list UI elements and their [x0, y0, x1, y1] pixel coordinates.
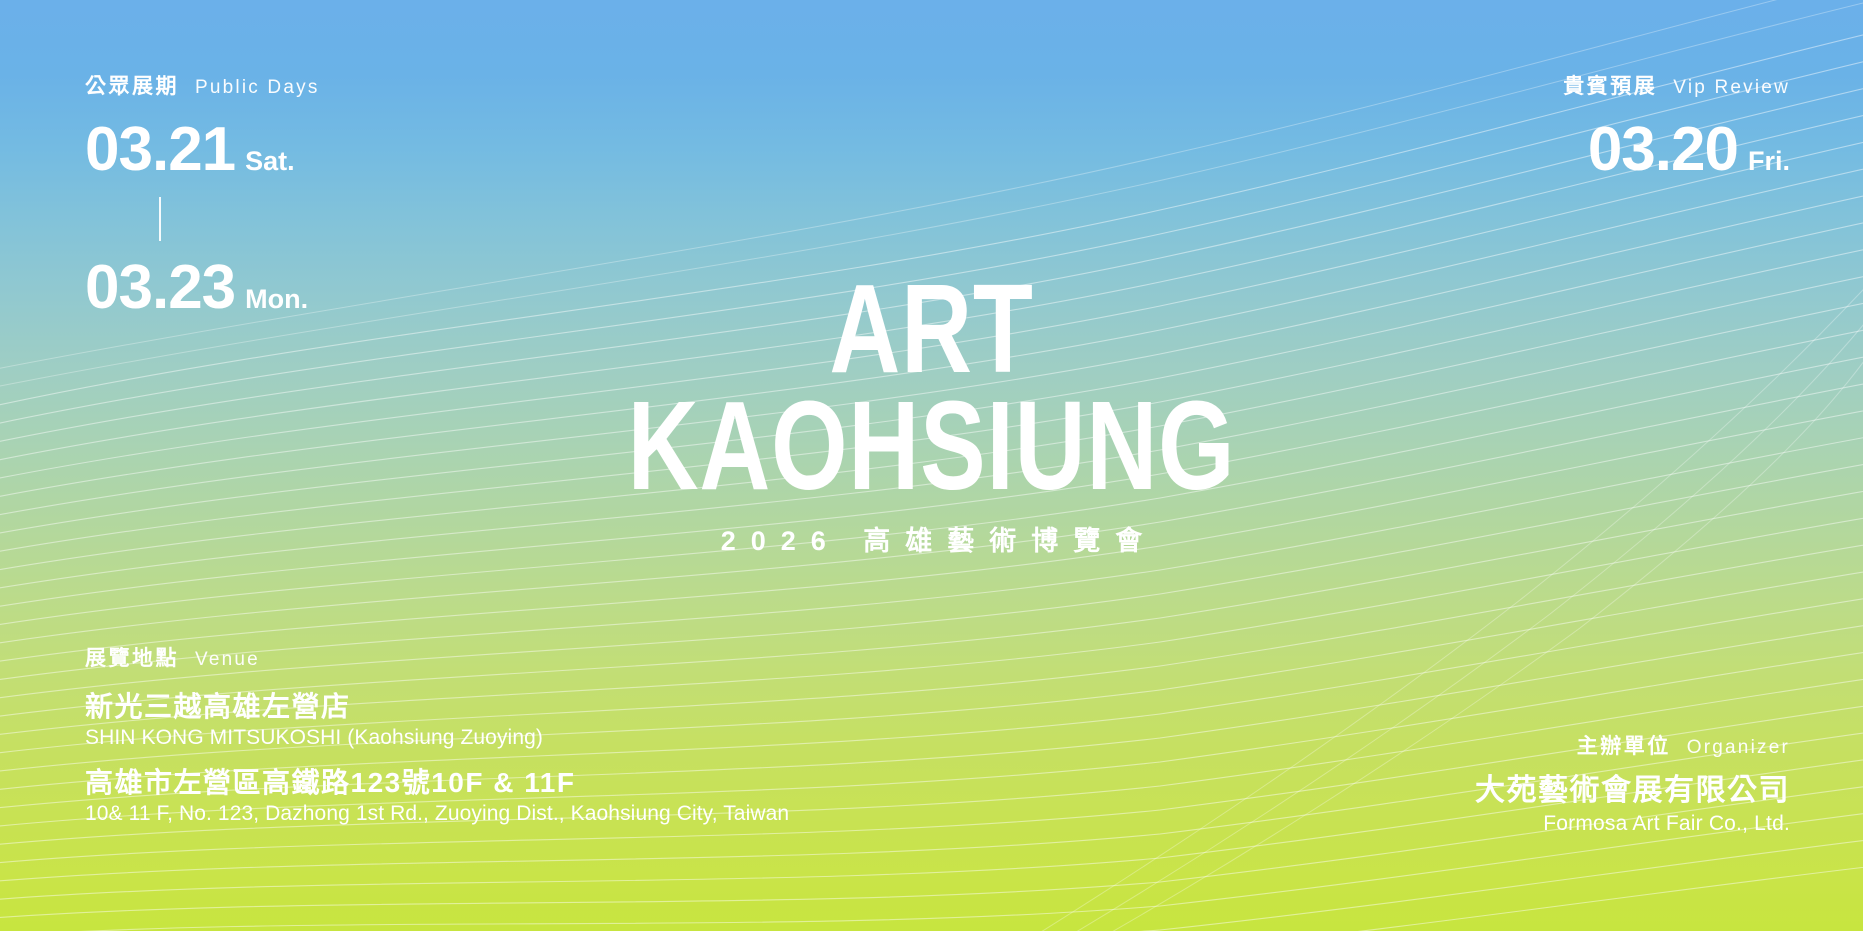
venue-block: 展覽地點 Venue 新光三越高雄左營店 SHIN KONG MITSUKOSH… [85, 648, 789, 828]
vip-review-label-zh: 貴賓預展 [1563, 76, 1657, 97]
public-days-label: 公眾展期 Public Days [85, 76, 320, 97]
vip-review-label: 貴賓預展 Vip Review [1563, 76, 1790, 97]
public-days-label-zh: 公眾展期 [85, 76, 179, 97]
organizer-name-zh: 大苑藝術會展有限公司 [1475, 773, 1790, 810]
organizer-block: 主辦單位 Organizer 大苑藝術會展有限公司 Formosa Art Fa… [1475, 736, 1790, 837]
public-days-start-date: 03.21 Sat. [85, 119, 320, 181]
organizer-label-en: Organizer [1687, 738, 1790, 757]
public-days-label-en: Public Days [195, 78, 320, 97]
venue-label: 展覽地點 Venue [85, 648, 789, 669]
venue-label-zh: 展覽地點 [85, 648, 179, 669]
organizer-label-zh: 主辦單位 [1577, 736, 1671, 757]
venue-address-zh: 高雄市左營區高鐵路123號10F & 11F [85, 765, 789, 800]
title-line-art: ART [205, 274, 1658, 385]
venue-label-en: Venue [195, 650, 260, 669]
venue-address-group: 高雄市左營區高鐵路123號10F & 11F 10& 11 F, No. 123… [85, 765, 789, 827]
vip-review-date-number: 03.20 [1588, 119, 1738, 181]
title-subtitle: 2026 高雄藝術博覽會 [0, 528, 1863, 555]
venue-address-en: 10& 11 F, No. 123, Dazhong 1st Rd., Zuoy… [85, 800, 789, 827]
venue-name-group: 新光三越高雄左營店 SHIN KONG MITSUKOSHI (Kaohsiun… [85, 689, 789, 751]
organizer-label: 主辦單位 Organizer [1475, 736, 1790, 757]
vip-review-date: 03.20 Fri. [1563, 119, 1790, 181]
vip-review-weekday: Fri. [1748, 148, 1790, 175]
venue-name-zh: 新光三越高雄左營店 [85, 689, 789, 724]
vip-review-label-en: Vip Review [1673, 78, 1790, 97]
date-range-separator-line [159, 197, 161, 241]
title-lockup: ART KAOHSIUNG 2026 高雄藝術博覽會 [0, 274, 1863, 555]
organizer-name-en: Formosa Art Fair Co., Ltd. [1475, 810, 1790, 837]
title-line-kaohsiung: KAOHSIUNG [205, 391, 1658, 502]
event-poster: 公眾展期 Public Days 03.21 Sat. 03.23 Mon. 貴… [0, 0, 1863, 931]
vip-review-block: 貴賓預展 Vip Review 03.20 Fri. [1563, 76, 1790, 181]
public-days-start-weekday: Sat. [245, 148, 295, 175]
venue-name-en: SHIN KONG MITSUKOSHI (Kaohsiung Zuoying) [85, 724, 789, 751]
public-days-start-date-number: 03.21 [85, 119, 235, 181]
